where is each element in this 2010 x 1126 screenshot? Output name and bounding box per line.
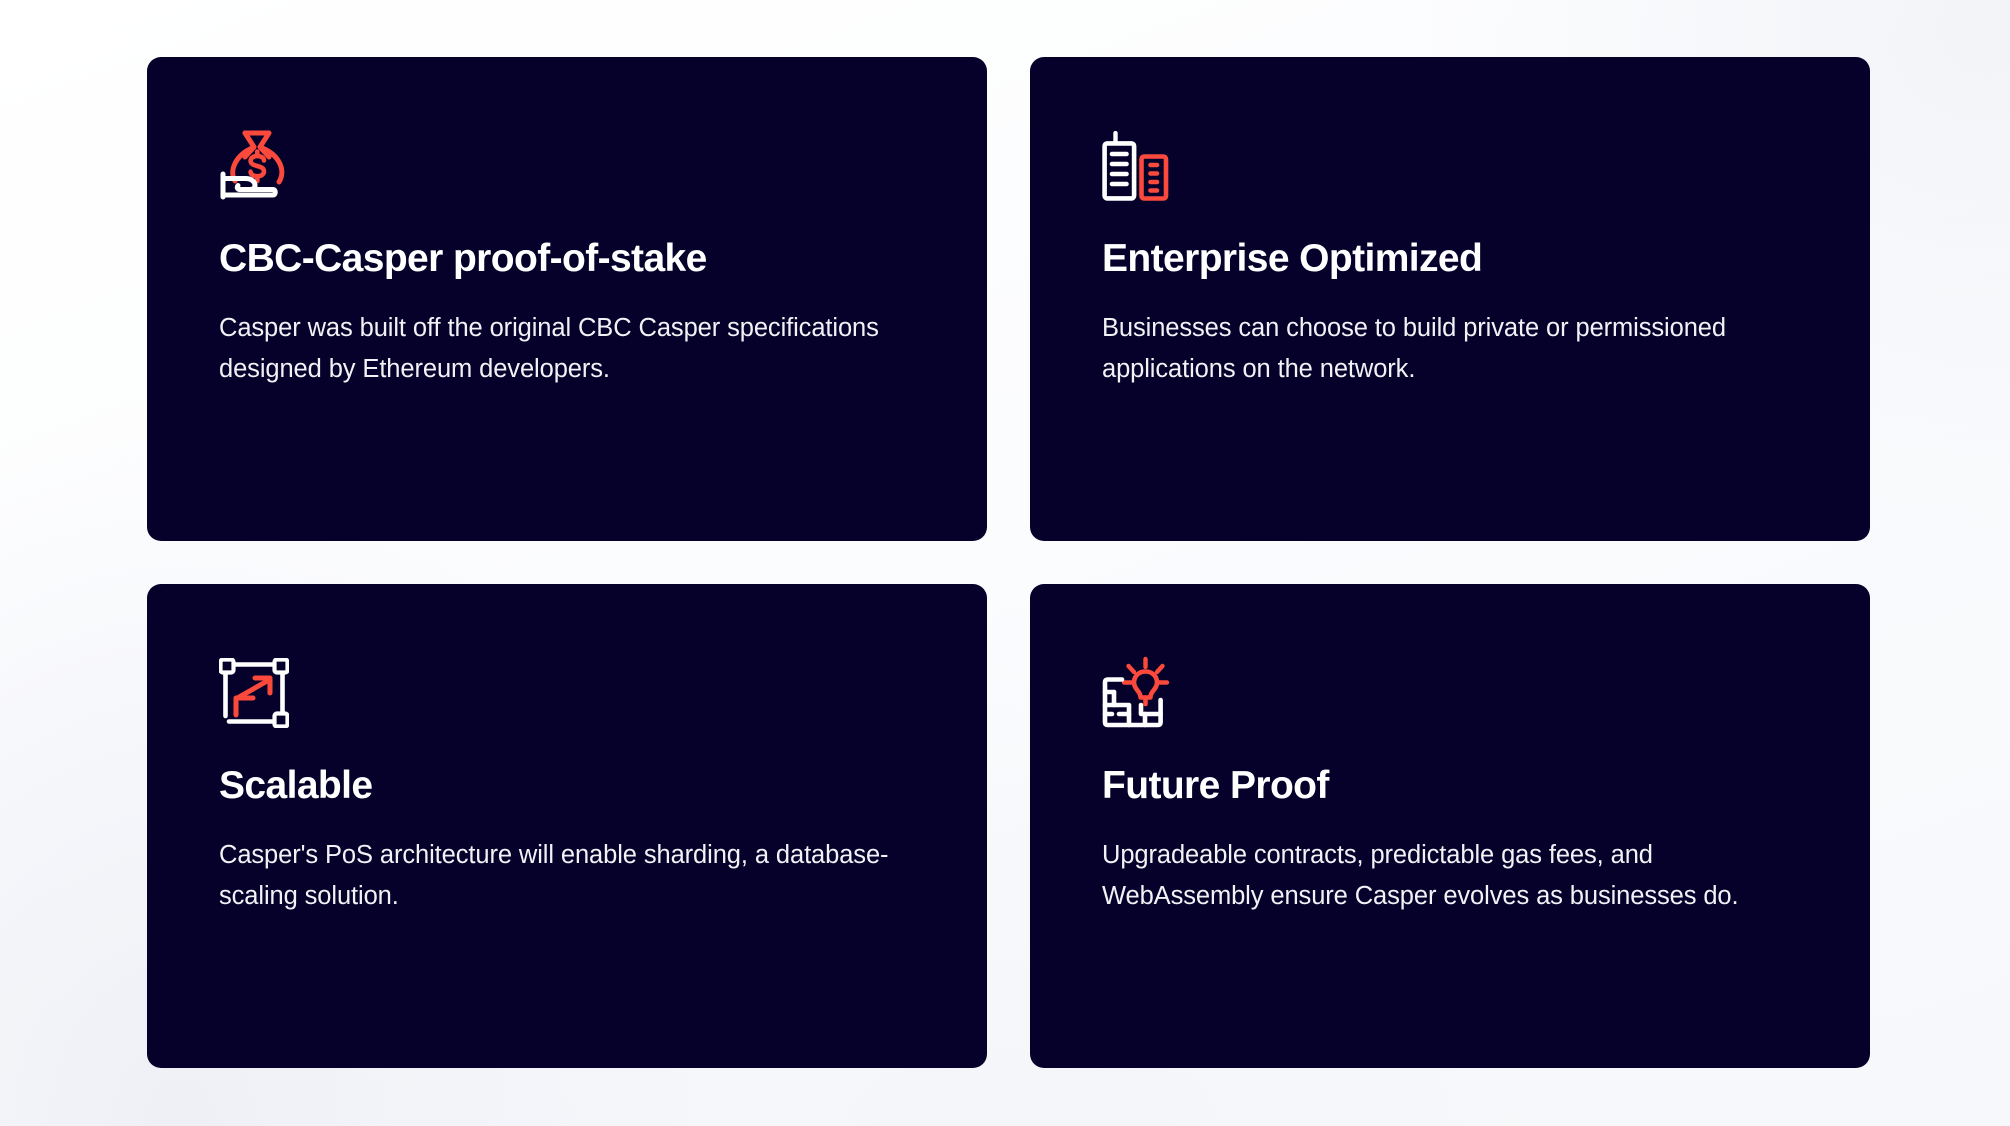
blueprint-lightbulb-icon [1102,650,1184,728]
card-title: Enterprise Optimized [1102,237,1798,282]
card-title: Scalable [219,764,915,809]
office-buildings-icon [1102,123,1184,201]
card-body: Businesses can choose to build private o… [1102,308,1782,391]
feature-card-scalable[interactable]: Scalable Casper's PoS architecture will … [147,584,987,1068]
money-bag-in-hand-icon [219,123,301,201]
card-title: Future Proof [1102,764,1798,809]
feature-card-enterprise-optimized[interactable]: Enterprise Optimized Businesses can choo… [1030,57,1870,541]
scale-expand-arrow-icon [219,650,301,728]
feature-card-cbc-casper[interactable]: CBC-Casper proof-of-stake Casper was bui… [147,57,987,541]
card-title: CBC-Casper proof-of-stake [219,237,915,282]
card-body: Casper's PoS architecture will enable sh… [219,835,899,918]
feature-card-grid: CBC-Casper proof-of-stake Casper was bui… [147,57,1870,1068]
card-body: Upgradeable contracts, predictable gas f… [1102,835,1782,918]
feature-card-future-proof[interactable]: Future Proof Upgradeable contracts, pred… [1030,584,1870,1068]
card-body: Casper was built off the original CBC Ca… [219,308,899,391]
